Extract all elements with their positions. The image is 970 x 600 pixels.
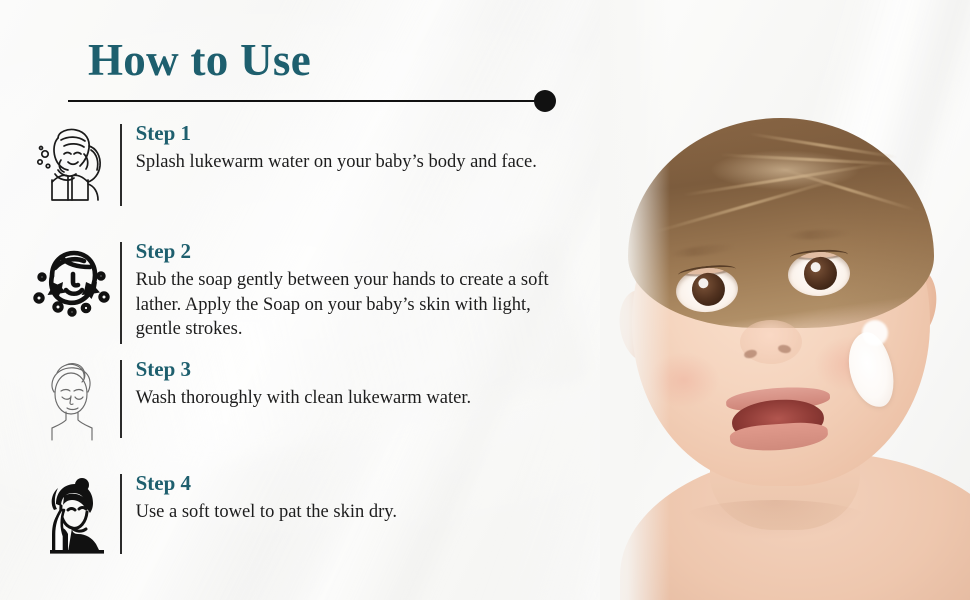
step-description: Splash lukewarm water on your baby’s bod… [136, 150, 556, 174]
step-item: Step 1 Splash lukewarm water on your bab… [26, 122, 586, 206]
step-description: Rub the soap gently between your hands t… [136, 268, 556, 341]
step-divider [120, 242, 122, 344]
woman-splashing-water-on-face-icon [26, 122, 114, 206]
step-heading: Step 2 [136, 240, 586, 263]
baby-hair-highlight [710, 150, 860, 190]
step-heading: Step 3 [136, 358, 586, 381]
step-item: Step 3 Wash thoroughly with clean lukewa… [26, 358, 586, 442]
face-with-hair-towel-wrap-icon [26, 358, 114, 442]
how-to-use-banner: How to Use [0, 0, 970, 600]
step-divider [120, 360, 122, 438]
step-item: Step 4 Use a soft towel to pat the skin … [26, 472, 586, 556]
step-description: Wash thoroughly with clean lukewarm wate… [136, 386, 556, 410]
baby-photo [600, 0, 970, 600]
woman-patting-face-with-towel-icon [26, 472, 114, 556]
baby-collarbone-shadow [680, 500, 870, 540]
title-underline [68, 100, 546, 102]
step-description: Use a soft towel to pat the skin dry. [136, 500, 556, 524]
title-underline-dot [534, 90, 556, 112]
step-divider [120, 124, 122, 206]
step-item: Step 2 Rub the soap gently between your … [26, 240, 586, 344]
cream-smudge-highlight [862, 320, 888, 346]
step-heading: Step 4 [136, 472, 586, 495]
step-divider [120, 474, 122, 554]
content-column: How to Use [0, 0, 620, 600]
page-title: How to Use [88, 38, 311, 83]
face-with-soap-lather-bubbles-icon [26, 240, 114, 324]
step-heading: Step 1 [136, 122, 586, 145]
